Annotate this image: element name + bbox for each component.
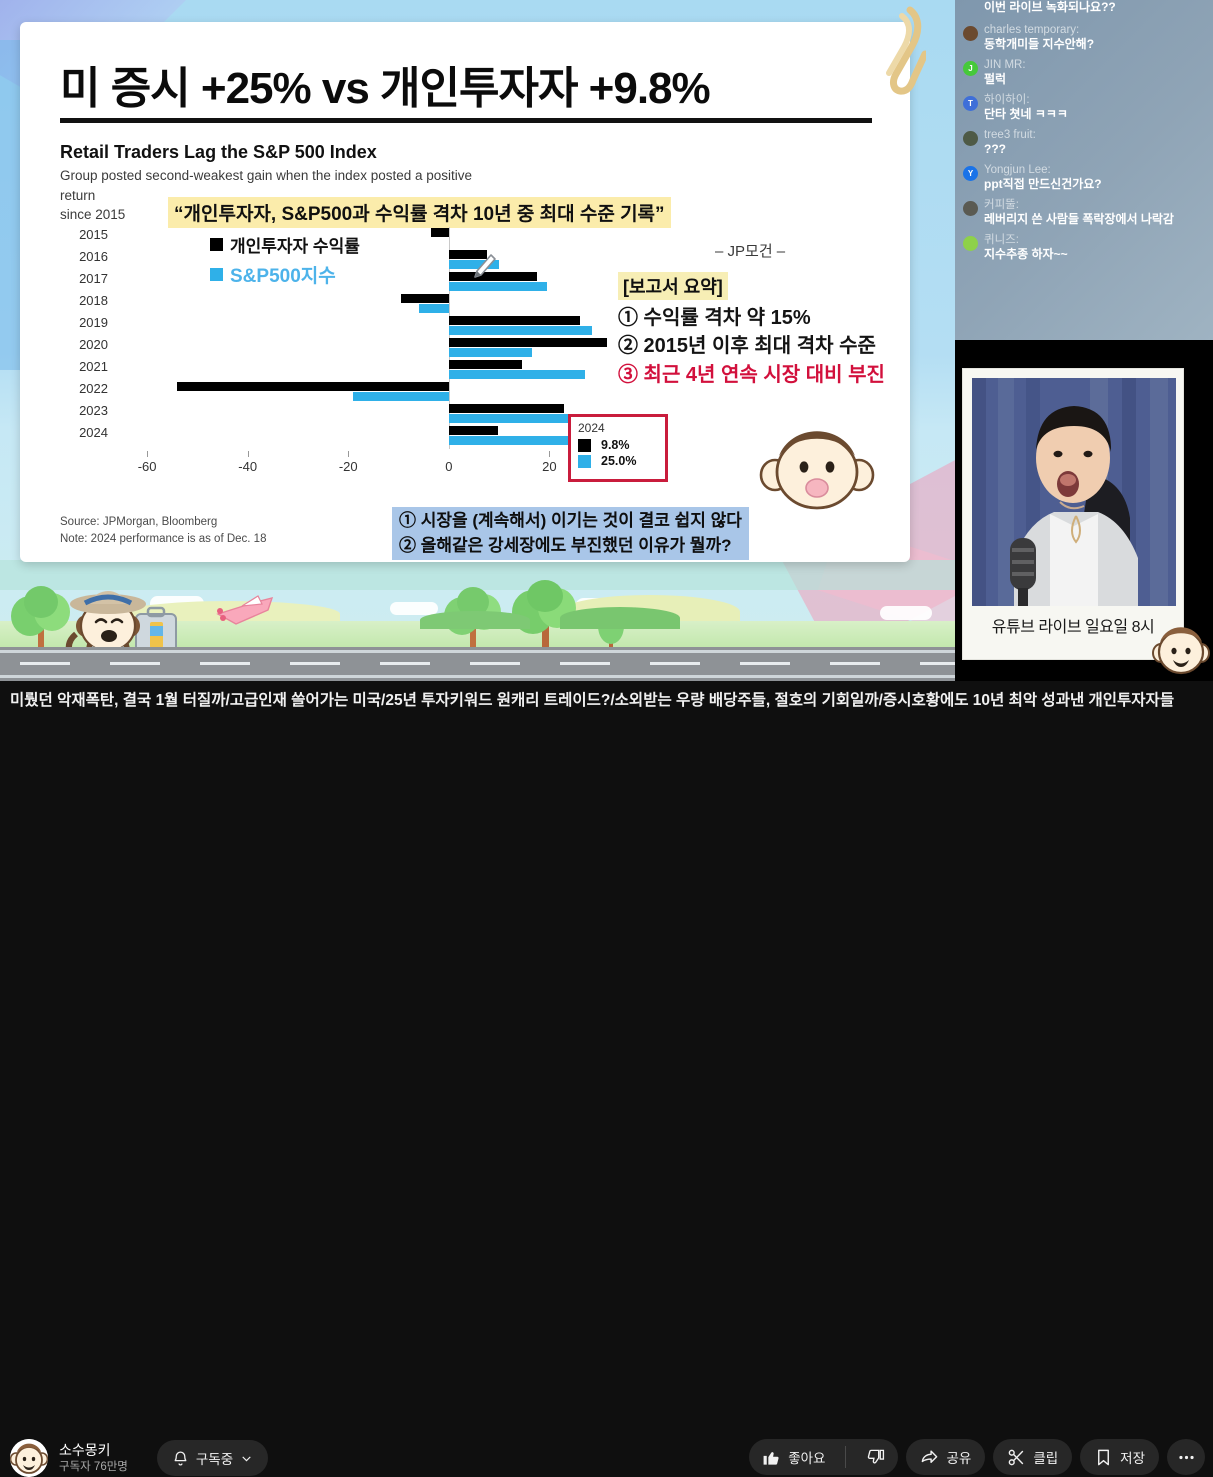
road-dash xyxy=(650,662,700,665)
legend-swatch-index xyxy=(210,268,223,281)
source-credit: – JP모건 – xyxy=(715,240,785,261)
monkey-sticker-icon xyxy=(758,420,876,512)
chart-ylabel: 2020 xyxy=(60,337,108,352)
chat-avatar: Y xyxy=(963,166,978,181)
chart-title-en: Retail Traders Lag the S&P 500 Index xyxy=(60,142,377,163)
quote-highlight: “개인투자자, S&P500과 수익률 격차 10년 중 최대 수준 기록” xyxy=(168,197,671,228)
chart-ylabel: 2019 xyxy=(60,315,108,330)
like-label: 좋아요 xyxy=(788,1447,825,1467)
chart-ylabel: 2022 xyxy=(60,381,108,396)
chart-ylabel: 2023 xyxy=(60,403,108,418)
more-horizontal-icon xyxy=(1177,1448,1196,1467)
monkey-avatar-icon xyxy=(10,1439,48,1477)
slide-headline: 미 증시 +25% vs 개인투자자 +9.8% xyxy=(60,52,870,116)
chevron-down-icon xyxy=(240,1452,253,1465)
notes-item-3: ③ 최근 4년 연속 시장 대비 부진 xyxy=(618,361,910,389)
share-label: 공유 xyxy=(946,1447,971,1467)
bottom-highlight-line-2: ② 올해같은 강세장에도 부진했던 이유가 뭘까? xyxy=(399,534,742,559)
callout-row-index: 25.0% xyxy=(578,454,658,468)
dislike-button[interactable] xyxy=(853,1439,898,1475)
road-dash xyxy=(110,662,160,665)
share-button[interactable]: 공유 xyxy=(906,1439,985,1475)
road-dash xyxy=(380,662,430,665)
save-button[interactable]: 저장 xyxy=(1080,1439,1159,1475)
chat-message-body: Yongjun Leeppt직접 만드신건가요? xyxy=(984,163,1205,193)
chart-ylabel: 2021 xyxy=(60,359,108,374)
chart-ylabel: 2015 xyxy=(60,227,108,242)
callout-swatch-index xyxy=(578,455,591,468)
chart-bar xyxy=(449,426,498,435)
live-chat-panel[interactable]: 이번 라이브 녹화되나요??charles temporary동학개미들 지수안… xyxy=(955,0,1213,340)
travel-scene-banner xyxy=(0,568,955,681)
chart-ylabel: 2017 xyxy=(60,271,108,286)
chart-xlabel: 20 xyxy=(542,459,556,474)
monkey-corner-sticker-icon xyxy=(1152,622,1210,676)
notes-heading: [보고서 요약] xyxy=(618,272,728,300)
callout-value-index: 25.0% xyxy=(601,454,636,468)
road-strip xyxy=(0,647,955,681)
pencil-icon xyxy=(470,252,498,282)
chat-text: 이번 라이브 녹화되나요?? xyxy=(984,0,1205,16)
chat-text: 지수추종 하자~~ xyxy=(984,247,1205,263)
webcam-overlay: 유튜브 라이브 일요일 8시 xyxy=(962,368,1184,660)
chat-message: 커피뚤레버리지 쓴 사람들 폭락장에서 나락감 xyxy=(963,195,1205,230)
chart-bar xyxy=(419,304,449,313)
chat-message: T하이하이단타 쳣네 ㅋㅋㅋ xyxy=(963,90,1205,125)
callout-box-2024: 2024 9.8% 25.0% xyxy=(568,414,668,482)
thumbs-up-icon xyxy=(762,1448,781,1467)
report-summary-notes: [보고서 요약] ① 수익률 격차 약 15% ② 2015년 이후 최대 격차… xyxy=(618,272,910,389)
chart-xlabel: -40 xyxy=(238,459,257,474)
video-meta-bar: 미뤘던 악재폭탄, 결국 1월 터질까/고급인재 쓸어가는 미국/25년 투자키… xyxy=(0,681,1213,801)
chat-message: 퀴니즈지수추종 하자~~ xyxy=(963,230,1205,265)
chart-bar xyxy=(449,414,572,423)
road-dash xyxy=(290,662,340,665)
presentation-slide: 미 증시 +25% vs 개인투자자 +9.8% Retail Traders … xyxy=(0,0,955,681)
chart-bar xyxy=(353,392,449,401)
channel-avatar[interactable] xyxy=(10,1439,48,1477)
chart-bar xyxy=(449,360,522,369)
paperclip-icon xyxy=(880,2,926,98)
chat-avatar: J xyxy=(963,61,978,76)
chart-xtick xyxy=(549,451,550,457)
chart-bar xyxy=(401,294,449,303)
road-dash xyxy=(830,662,880,665)
chat-text: ppt직접 만드신건가요? xyxy=(984,177,1205,193)
cloud-icon xyxy=(390,602,438,615)
chart-ylabel: 2018 xyxy=(60,293,108,308)
chat-message-body: 퀴니즈지수추종 하자~~ xyxy=(984,233,1205,263)
chart-bar xyxy=(449,370,585,379)
chat-avatar: T xyxy=(963,96,978,111)
chart-bar xyxy=(449,326,592,335)
presenter-figure xyxy=(972,378,1176,606)
road-edge-line xyxy=(0,675,955,678)
bell-icon xyxy=(172,1450,189,1467)
chat-author[interactable]: Yongjun Lee xyxy=(984,163,1205,177)
chat-avatar xyxy=(963,201,978,216)
chat-avatar xyxy=(963,26,978,41)
legend-swatch-retail xyxy=(210,238,223,251)
chart-xtick xyxy=(147,451,148,457)
save-label: 저장 xyxy=(1120,1447,1145,1467)
callout-value-retail: 9.8% xyxy=(601,438,630,452)
chat-message: tree3 fruit??? xyxy=(963,125,1205,160)
chat-text: 동학개미들 지수안해? xyxy=(984,37,1205,53)
chart-xlabel: -60 xyxy=(138,459,157,474)
share-icon xyxy=(920,1448,939,1467)
chat-message: JJIN MR펄럭 xyxy=(963,55,1205,90)
bush-shape xyxy=(420,611,530,629)
chat-author[interactable]: JIN MR xyxy=(984,58,1205,72)
cloud-icon xyxy=(880,606,932,620)
road-dash xyxy=(20,662,70,665)
chat-avatar xyxy=(963,236,978,251)
bookmark-icon xyxy=(1094,1448,1113,1467)
chart-xtick xyxy=(248,451,249,457)
road-dash xyxy=(470,662,520,665)
headline-rule xyxy=(60,118,872,123)
chat-text: 펄럭 xyxy=(984,72,1205,88)
chat-message-body: 커피뚤레버리지 쓴 사람들 폭락장에서 나락감 xyxy=(984,198,1205,228)
chat-author[interactable]: charles temporary xyxy=(984,23,1205,37)
callout-year: 2024 xyxy=(578,421,658,435)
webcam-video xyxy=(972,378,1176,606)
chat-message-body: charles temporary동학개미들 지수안해? xyxy=(984,23,1205,53)
legend-label-retail: 개인투자자 수익률 xyxy=(230,232,360,257)
bush-shape xyxy=(560,607,680,629)
video-player[interactable]: 미 증시 +25% vs 개인투자자 +9.8% Retail Traders … xyxy=(0,0,1213,681)
legend-item-retail: 개인투자자 수익률 xyxy=(210,232,360,257)
chat-avatar-spacer xyxy=(963,3,978,18)
bottom-highlight-line-1: ① 시장을 (계속해서) 이기는 것이 결코 쉽지 않다 xyxy=(399,509,742,534)
chart-bar xyxy=(449,348,532,357)
channel-info: 소수몽키 구독자 76만명 xyxy=(59,1441,128,1474)
notes-item-1: ① 수익률 격차 약 15% xyxy=(618,304,910,332)
thumbs-down-icon xyxy=(866,1448,885,1467)
callout-swatch-retail xyxy=(578,439,591,452)
callout-row-retail: 9.8% xyxy=(578,438,658,452)
chat-message: charles temporary동학개미들 지수안해? xyxy=(963,20,1205,55)
chat-message: 이번 라이브 녹화되나요?? xyxy=(963,0,1205,20)
like-button[interactable]: 좋아요 xyxy=(749,1439,838,1475)
notes-item-2: ② 2015년 이후 최대 격차 수준 xyxy=(618,332,910,360)
chart-bar xyxy=(449,436,575,445)
channel-subscribers: 구독자 76만명 xyxy=(59,1460,128,1475)
clip-button[interactable]: 클립 xyxy=(993,1439,1072,1475)
action-divider xyxy=(845,1446,846,1468)
road-dash xyxy=(740,662,790,665)
airplane-icon xyxy=(212,592,278,630)
chart-bar xyxy=(177,382,449,391)
scissors-icon xyxy=(1007,1448,1026,1467)
bottom-highlight-box: ① 시장을 (계속해서) 이기는 것이 결코 쉽지 않다 ② 올해같은 강세장에… xyxy=(392,507,749,560)
channel-name[interactable]: 소수몽키 xyxy=(59,1441,128,1459)
chat-avatar xyxy=(963,131,978,146)
road-dash xyxy=(200,662,250,665)
road-dash xyxy=(560,662,610,665)
chat-text: 레버리지 쓴 사람들 폭락장에서 나락감 xyxy=(984,212,1205,228)
video-actions: 좋아요 공유 xyxy=(749,1439,1205,1475)
chart-ylabel: 2016 xyxy=(60,249,108,264)
chart-xlabel: -20 xyxy=(339,459,358,474)
chat-message-body: 하이하이단타 쳣네 ㅋㅋㅋ xyxy=(984,93,1205,123)
chat-text: ??? xyxy=(984,142,1205,158)
chat-message: YYongjun Leeppt직접 만드신건가요? xyxy=(963,160,1205,195)
webcam-caption: 유튜브 라이브 일요일 8시 xyxy=(972,606,1174,637)
chart-legend: 개인투자자 수익률 S&P500지수 xyxy=(210,232,360,292)
like-dislike-group: 좋아요 xyxy=(749,1439,898,1475)
chat-author[interactable]: tree3 fruit xyxy=(984,128,1205,142)
video-title[interactable]: 미뤘던 악재폭탄, 결국 1월 터질까/고급인재 쓸어가는 미국/25년 투자키… xyxy=(10,689,1190,712)
legend-item-index: S&P500지수 xyxy=(210,261,360,288)
chart-bar xyxy=(449,338,607,347)
chat-author[interactable]: 퀴니즈 xyxy=(984,233,1205,247)
chat-message-body: tree3 fruit??? xyxy=(984,128,1205,158)
subscribe-label: 구독중 xyxy=(196,1448,233,1468)
chat-message-body: 이번 라이브 녹화되나요?? xyxy=(984,0,1205,18)
chart-source-note: Source: JPMorgan, Bloomberg Note: 2024 p… xyxy=(60,514,266,549)
road-edge-line xyxy=(0,650,955,653)
more-actions-button[interactable] xyxy=(1167,1439,1205,1475)
road-dash xyxy=(920,662,955,665)
chart-bar xyxy=(431,228,449,237)
subscribe-button[interactable]: 구독중 xyxy=(157,1440,268,1476)
chat-author[interactable]: 커피뚤 xyxy=(984,198,1205,212)
clip-label: 클립 xyxy=(1033,1447,1058,1467)
chat-message-body: JIN MR펄럭 xyxy=(984,58,1205,88)
chat-author[interactable]: 하이하이 xyxy=(984,93,1205,107)
chart-xlabel: 0 xyxy=(445,459,452,474)
chart-bar xyxy=(449,404,565,413)
slide-card: 미 증시 +25% vs 개인투자자 +9.8% Retail Traders … xyxy=(20,22,910,562)
chart-bar xyxy=(449,282,547,291)
chart-bar xyxy=(449,316,580,325)
legend-label-index: S&P500지수 xyxy=(230,261,336,288)
chart-ylabel: 2024 xyxy=(60,425,108,440)
chart-xtick xyxy=(348,451,349,457)
chat-text: 단타 쳣네 ㅋㅋㅋ xyxy=(984,107,1205,123)
channel-row: 소수몽키 구독자 76만명 구독중 xyxy=(10,1439,268,1477)
